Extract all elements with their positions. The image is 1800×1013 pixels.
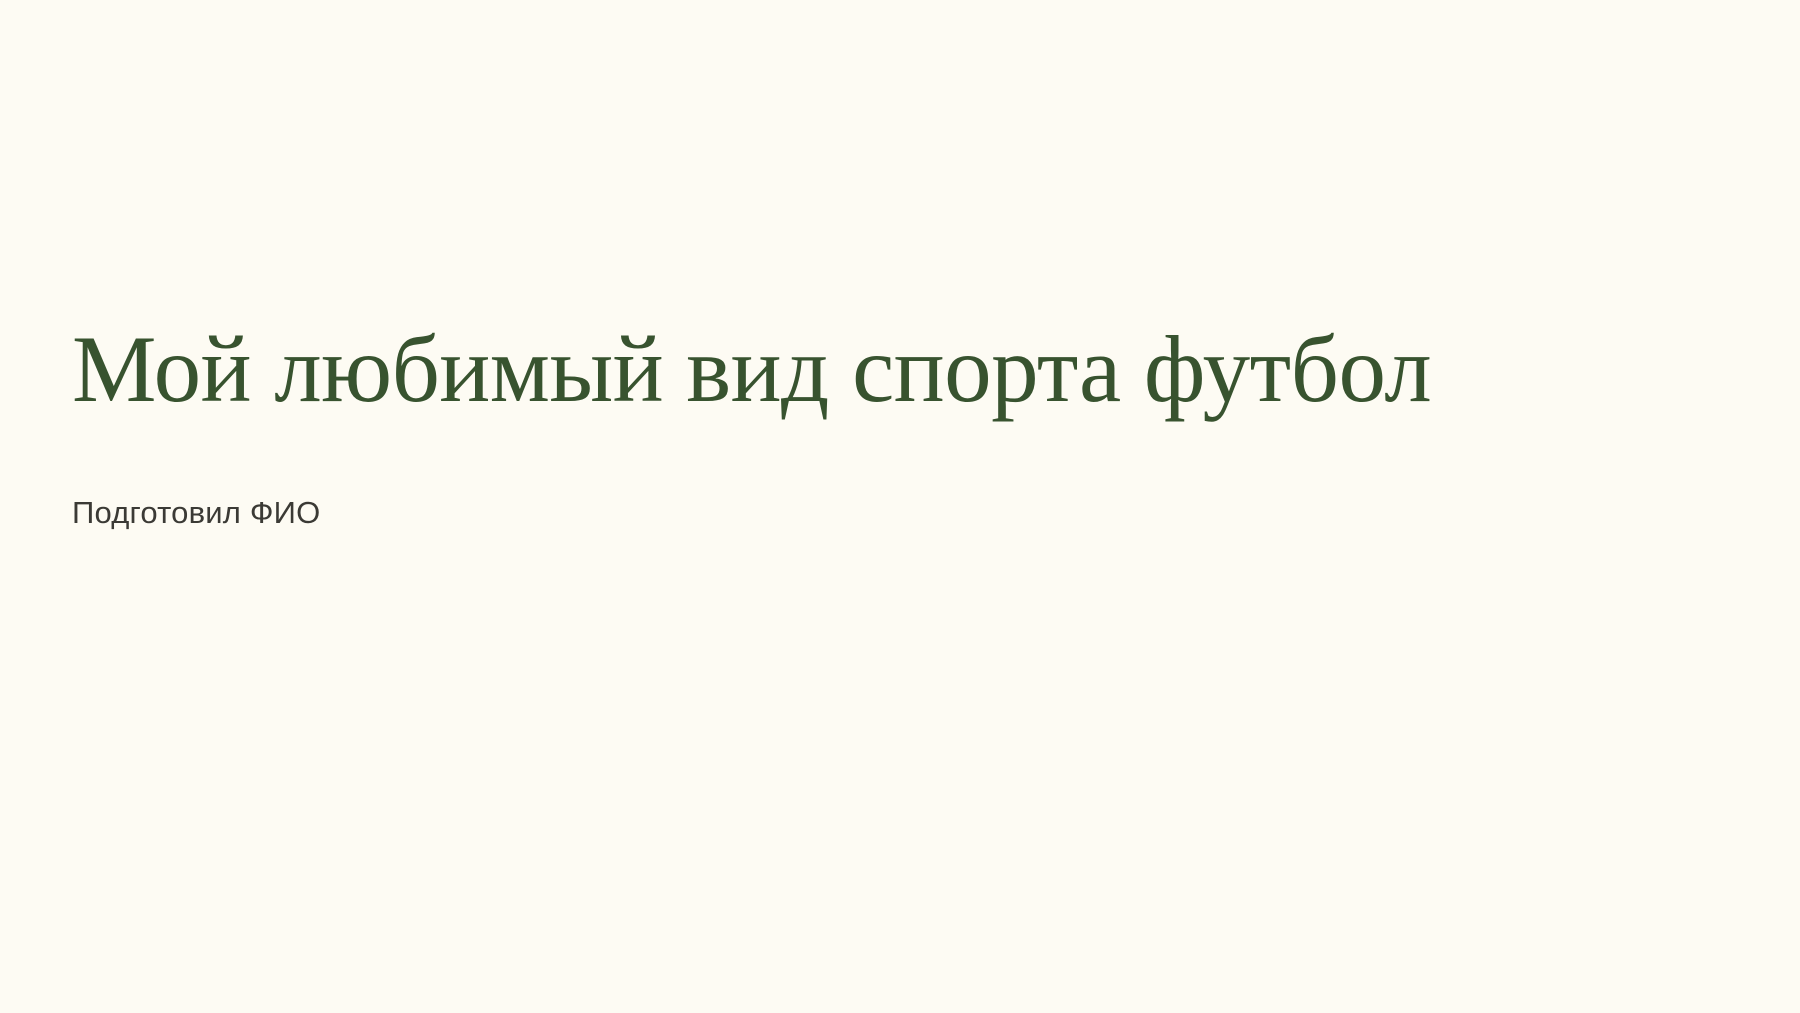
slide-subtitle: Подготовил ФИО (72, 421, 1732, 533)
title-block: Мой любимый вид спорта футбол Подготовил… (72, 318, 1732, 533)
slide-canvas: Мой любимый вид спорта футбол Подготовил… (0, 0, 1800, 1013)
page-title: Мой любимый вид спорта футбол (72, 318, 1732, 421)
